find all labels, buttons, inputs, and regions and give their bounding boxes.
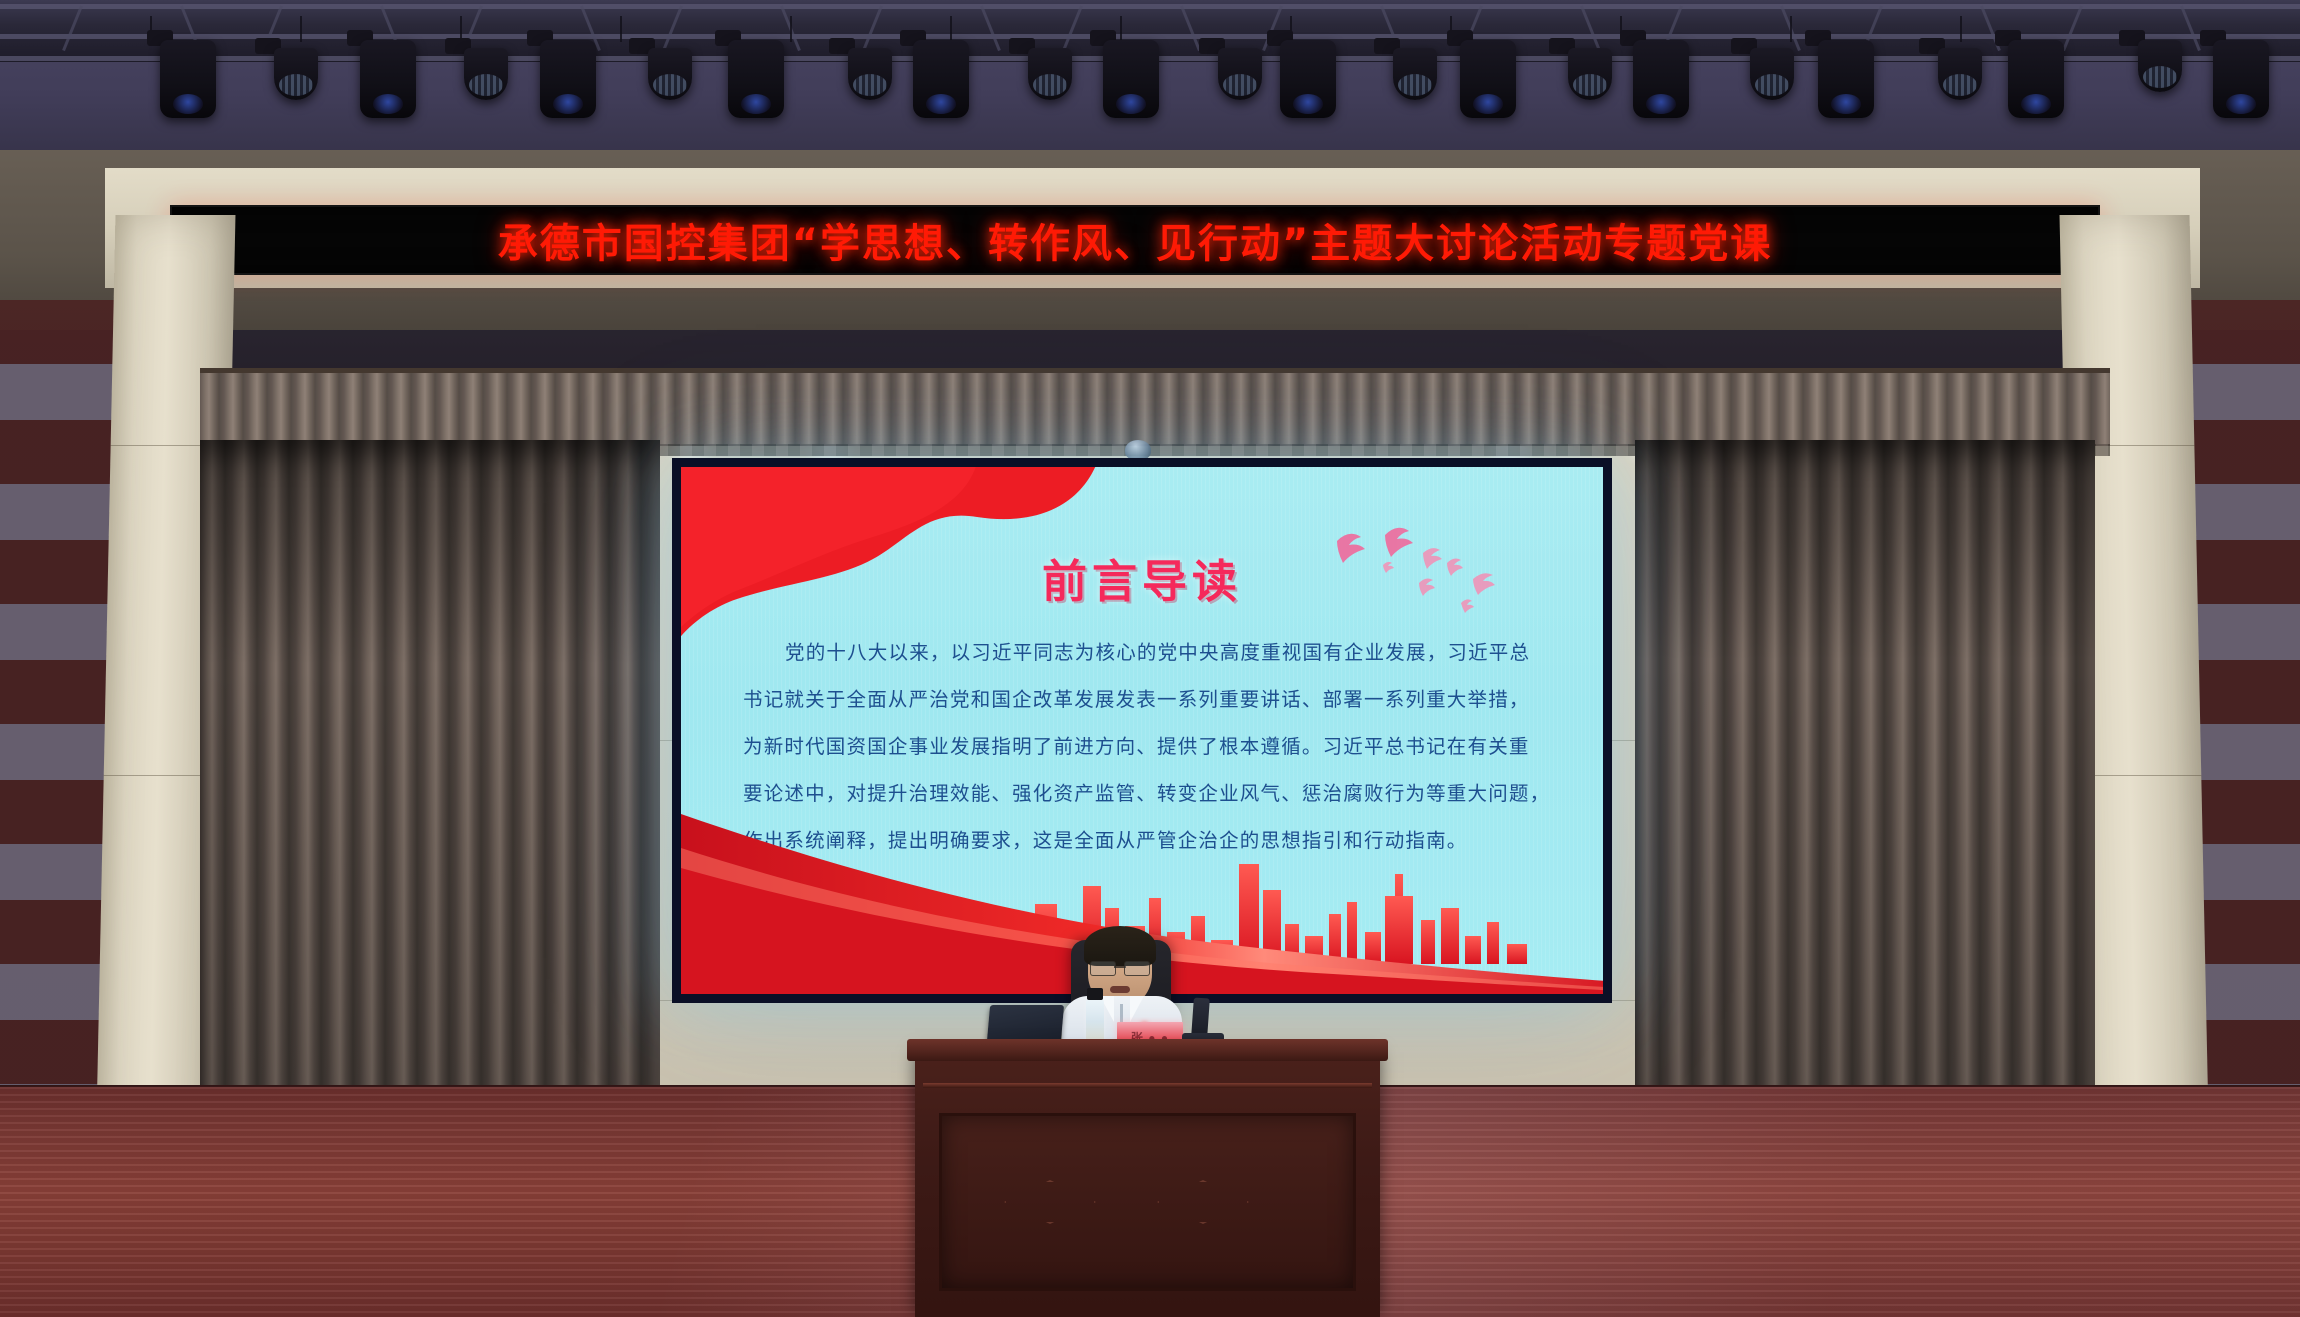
led-video-wall: 前言导读 党的十八大以来，以习近平同志为核心的党中央高度重视国有企业发展，习近平… [672,458,1612,1003]
desk-diamond-motif [1004,1180,1096,1224]
par-can-light [620,48,664,100]
curtain-valance [200,368,2110,446]
moving-head-light [1252,40,1308,118]
par-can-light [1365,48,1409,100]
moving-head-light [332,40,388,118]
desk-top-surface [907,1039,1388,1061]
par-can-light [436,48,480,100]
moving-head-light [132,40,188,118]
par-can-light [1190,48,1234,100]
speaker-hair [1084,926,1156,966]
moving-head-light [1605,40,1661,118]
moving-head-light [1432,40,1488,118]
moving-head-light [700,40,756,118]
led-banner-text: 承德市国控集团“学思想、转作风、见行动”主题大讨论活动专题党课 [498,211,1773,269]
desk-rail [923,1083,1372,1088]
eyeglasses-icon [1090,961,1150,974]
moving-head-light [1075,40,1131,118]
desk-front-panel [939,1113,1356,1291]
shirt-collar-right [1130,996,1144,1022]
speaker-podium-desk [915,1055,1380,1317]
slide-body-line: 党的十八大以来，以习近平同志为核心的党中央高度重视国有企业发展，习近平总 [743,629,1545,676]
moving-head-light [1980,40,2036,118]
presentation-slide: 前言导读 党的十八大以来，以习近平同志为核心的党中央高度重视国有企业发展，习近平… [681,467,1603,994]
par-can-light [1722,48,1766,100]
led-banner: 承德市国控集团“学思想、转作风、见行动”主题大讨论活动专题党课 [170,205,2100,275]
speaker-mouth [1110,986,1130,993]
slide-title: 前言导读 [681,545,1603,610]
par-can-light [820,48,864,100]
par-can-light [1000,48,1044,100]
moving-head-light [1790,40,1846,118]
slide-body-line: 为新时代国资国企事业发展指明了前进方向、提供了根本遵循。习近平总书记在有关重 [743,723,1545,770]
par-can-light [1540,48,1584,100]
moving-head-light [2185,40,2241,118]
par-can-light [246,48,290,100]
slide-body-line: 书记就关于全面从严治党和国企改革发展发表一系列重要讲话、部署一系列重大举措， [743,676,1545,723]
par-can-light [2110,40,2154,92]
par-can-light [1910,48,1954,100]
desk-diamond-motif [1157,1180,1249,1224]
auditorium-stage-photo: 承德市国控集团“学思想、转作风、见行动”主题大讨论活动专题党课 [0,0,2300,1317]
moving-head-light [512,40,568,118]
ceiling-dome-camera-icon [1125,440,1151,460]
moving-head-light [885,40,941,118]
